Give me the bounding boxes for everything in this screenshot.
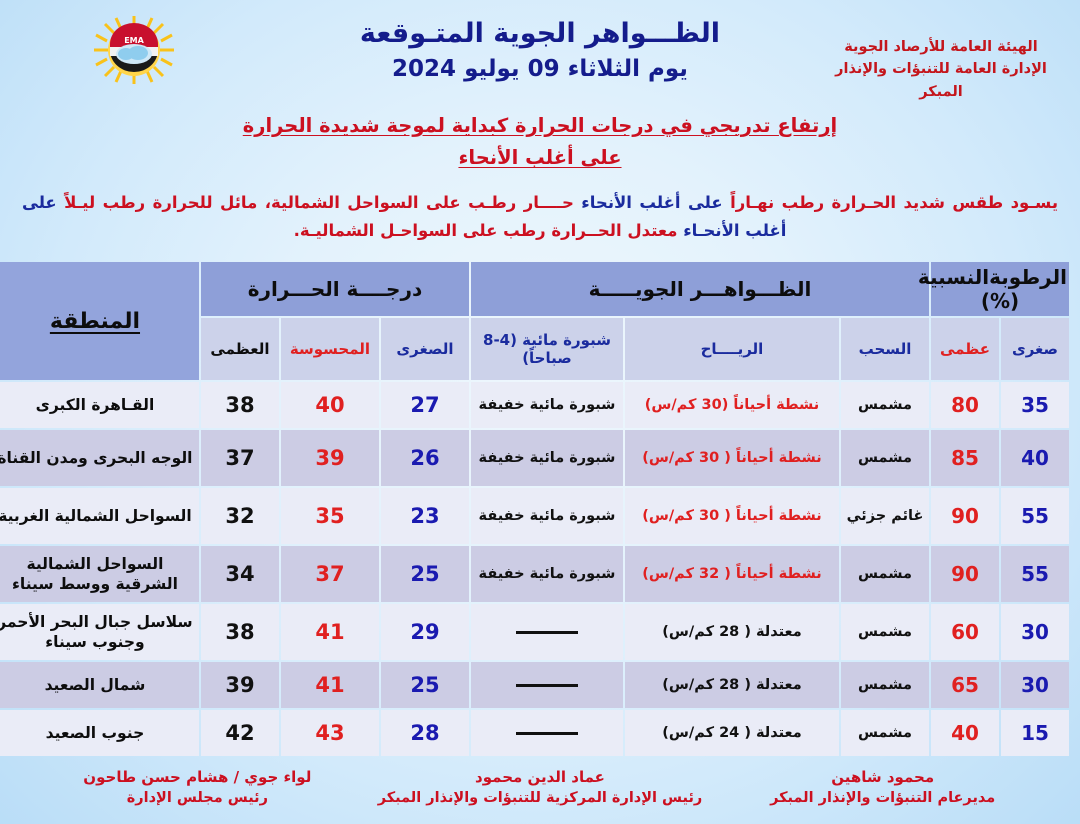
cell-temp-max: 38 <box>201 382 279 428</box>
column-header-temp-max: العظمى <box>201 318 279 380</box>
table-group-header-row: الرطوبةالنسبية (%) الظـــواهـــر الجويــ… <box>0 262 1069 316</box>
cell-region: القـاهرة الكبرى <box>0 382 199 428</box>
cell-temp-min: 25 <box>381 662 469 708</box>
cell-temp-min: 25 <box>381 546 469 602</box>
column-header-fog: شبورة مائية (4-8 صباحاً) <box>471 318 623 380</box>
cell-region: السواحل الشمالية الشرقية ووسط سيناء <box>0 546 199 602</box>
signatory-name: عماد الدين محمود <box>369 766 712 789</box>
cell-temp-max: 34 <box>201 546 279 602</box>
table-row: 3580مشمسنشطة أحياناً (30 كم/س)شبورة مائي… <box>0 382 1069 428</box>
cell-humidity-max: 80 <box>931 382 999 428</box>
cell-humidity-max: 65 <box>931 662 999 708</box>
no-data-dash-icon <box>516 732 578 735</box>
cell-temp-feel: 35 <box>281 488 379 544</box>
cell-humidity-min: 30 <box>1001 604 1069 660</box>
signatory-name: محمود شاهين <box>711 766 1054 789</box>
cell-region: شمال الصعيد <box>0 662 199 708</box>
cell-fog <box>471 662 623 708</box>
cell-temp-max: 39 <box>201 662 279 708</box>
cell-temp-feel: 39 <box>281 430 379 486</box>
signature-footer: محمود شاهينمديرعام التنبؤات والإنذار الم… <box>0 766 1080 810</box>
organization-name: الهيئة العامة للأرصاد الجوية <box>816 36 1066 58</box>
cell-fog <box>471 710 623 756</box>
signatory-title: رئيس الإدارة المركزية للتنبؤات والإنذار … <box>369 788 712 810</box>
forecast-table: الرطوبةالنسبية (%) الظـــواهـــر الجويــ… <box>0 260 1071 758</box>
table-row: 5590مشمسنشطة أحياناً ( 32 كم/س)شبورة مائ… <box>0 546 1069 602</box>
column-header-humidity-min: صغرى <box>1001 318 1069 380</box>
cell-humidity-max: 90 <box>931 488 999 544</box>
cell-temp-max: 42 <box>201 710 279 756</box>
cell-humidity-min: 15 <box>1001 710 1069 756</box>
cell-temp-feel: 43 <box>281 710 379 756</box>
group-header-humidity: الرطوبةالنسبية (%) <box>931 262 1069 316</box>
cell-region: سلاسل جبال البحر الأحمر وجنوب سيناء <box>0 604 199 660</box>
column-header-temp-min: الصغرى <box>381 318 469 380</box>
cell-clouds: غائم جزئي <box>841 488 929 544</box>
table-row: 1540مشمسمعتدلة ( 24 كم/س)284342جنوب الصع… <box>0 710 1069 756</box>
forecast-poster: EMA الظـــواهر الجوية المتـوقعة يوم الثل… <box>0 0 1080 824</box>
column-header-region: المنطقة <box>0 262 199 380</box>
cell-clouds: مشمس <box>841 430 929 486</box>
cell-temp-feel: 41 <box>281 604 379 660</box>
table-row: 3065مشمسمعتدلة ( 28 كم/س)254139شمال الصع… <box>0 662 1069 708</box>
cell-clouds: مشمس <box>841 662 929 708</box>
ema-sun-cloud-logo-icon: EMA <box>88 14 180 86</box>
signatory-title: رئيس مجلس الإدارة <box>26 788 369 810</box>
cell-fog: شبورة مائية خفيفة <box>471 488 623 544</box>
organization-block: الهيئة العامة للأرصاد الجوية الإدارة الع… <box>816 36 1066 103</box>
no-data-dash-icon <box>516 631 578 634</box>
heat-warning: إرتفاع تدريجي في درجات الحرارة كبداية لم… <box>0 112 1080 173</box>
cell-temp-max: 37 <box>201 430 279 486</box>
cell-temp-feel: 37 <box>281 546 379 602</box>
cell-humidity-max: 40 <box>931 710 999 756</box>
cell-wind: نشطة أحياناً (30 كم/س) <box>625 382 839 428</box>
forecast-table-body: 3580مشمسنشطة أحياناً (30 كم/س)شبورة مائي… <box>0 382 1069 756</box>
cell-temp-min: 28 <box>381 710 469 756</box>
column-header-temp-feel: المحسوسة <box>281 318 379 380</box>
signature-block: محمود شاهينمديرعام التنبؤات والإنذار الم… <box>711 766 1054 810</box>
cell-temp-min: 23 <box>381 488 469 544</box>
signature-block: عماد الدين محمودرئيس الإدارة المركزية لل… <box>369 766 712 810</box>
cell-region: جنوب الصعيد <box>0 710 199 756</box>
cell-wind: معتدلة ( 24 كم/س) <box>625 710 839 756</box>
cell-fog: شبورة مائية خفيفة <box>471 430 623 486</box>
poster-header: EMA الظـــواهر الجوية المتـوقعة يوم الثل… <box>0 0 1080 104</box>
summary-segment-5: معتدل الحــرارة رطب على السواحـل الشمالي… <box>294 221 678 240</box>
summary-segment-1: يسـود طقس شديد الحـرارة رطب نهـاراً <box>730 193 1058 212</box>
cell-fog: شبورة مائية خفيفة <box>471 546 623 602</box>
cell-clouds: مشمس <box>841 604 929 660</box>
cell-temp-feel: 41 <box>281 662 379 708</box>
table-row: 3060مشمسمعتدلة ( 28 كم/س)294138سلاسل جبا… <box>0 604 1069 660</box>
cell-humidity-min: 55 <box>1001 546 1069 602</box>
cell-region: السواحل الشمالية الغربية <box>0 488 199 544</box>
forecast-summary: يسـود طقس شديد الحـرارة رطب نهـاراً على … <box>22 189 1058 247</box>
no-data-dash-icon <box>516 684 578 687</box>
signatory-name: لواء جوي / هشام حسن طاحون <box>26 766 369 789</box>
table-row: 5590غائم جزئينشطة أحياناً ( 30 كم/س)شبور… <box>0 488 1069 544</box>
group-header-phenomena: الظـــواهـــر الجويـــــة <box>471 262 929 316</box>
warning-line-1: إرتفاع تدريجي في درجات الحرارة كبداية لم… <box>243 112 838 140</box>
ema-logo: EMA <box>88 14 180 86</box>
cell-fog <box>471 604 623 660</box>
cell-wind: معتدلة ( 28 كم/س) <box>625 662 839 708</box>
column-header-wind: الريــــاح <box>625 318 839 380</box>
cell-humidity-min: 55 <box>1001 488 1069 544</box>
table-row: 4085مشمسنشطة أحياناً ( 30 كم/س)شبورة مائ… <box>0 430 1069 486</box>
cell-fog: شبورة مائية خفيفة <box>471 382 623 428</box>
cell-wind: معتدلة ( 28 كم/س) <box>625 604 839 660</box>
cell-clouds: مشمس <box>841 710 929 756</box>
signature-block: لواء جوي / هشام حسن طاحونرئيس مجلس الإدا… <box>26 766 369 810</box>
cell-humidity-min: 40 <box>1001 430 1069 486</box>
cell-wind: نشطة أحياناً ( 30 كم/س) <box>625 430 839 486</box>
warning-line-2: على أغلب الأنحاء <box>458 144 621 172</box>
cell-temp-feel: 40 <box>281 382 379 428</box>
column-header-clouds: السحب <box>841 318 929 380</box>
cell-clouds: مشمس <box>841 382 929 428</box>
cell-region: الوجه البحرى ومدن القناة <box>0 430 199 486</box>
cell-humidity-min: 30 <box>1001 662 1069 708</box>
cell-temp-min: 26 <box>381 430 469 486</box>
svg-text:EMA: EMA <box>124 36 144 45</box>
summary-segment-3: حــــار رطـب على السواحل الشمالية، مائل … <box>64 193 574 212</box>
column-header-humidity-max: عظمى <box>931 318 999 380</box>
summary-segment-2: على أغلب الأنحاء <box>581 193 722 212</box>
group-header-temperature: درجــــة الحـــرارة <box>201 262 469 316</box>
cell-humidity-max: 90 <box>931 546 999 602</box>
cell-humidity-max: 85 <box>931 430 999 486</box>
cell-humidity-max: 60 <box>931 604 999 660</box>
signatory-title: مديرعام التنبؤات والإنذار المبكر <box>711 788 1054 810</box>
cell-humidity-min: 35 <box>1001 382 1069 428</box>
cell-temp-min: 29 <box>381 604 469 660</box>
department-name: الإدارة العامة للتنبؤات والإنذار المبكر <box>816 58 1066 103</box>
cell-temp-min: 27 <box>381 382 469 428</box>
cell-temp-max: 32 <box>201 488 279 544</box>
cell-temp-max: 38 <box>201 604 279 660</box>
cell-wind: نشطة أحياناً ( 32 كم/س) <box>625 546 839 602</box>
cell-wind: نشطة أحياناً ( 30 كم/س) <box>625 488 839 544</box>
forecast-table-wrap: الرطوبةالنسبية (%) الظـــواهـــر الجويــ… <box>9 260 1071 758</box>
cell-clouds: مشمس <box>841 546 929 602</box>
